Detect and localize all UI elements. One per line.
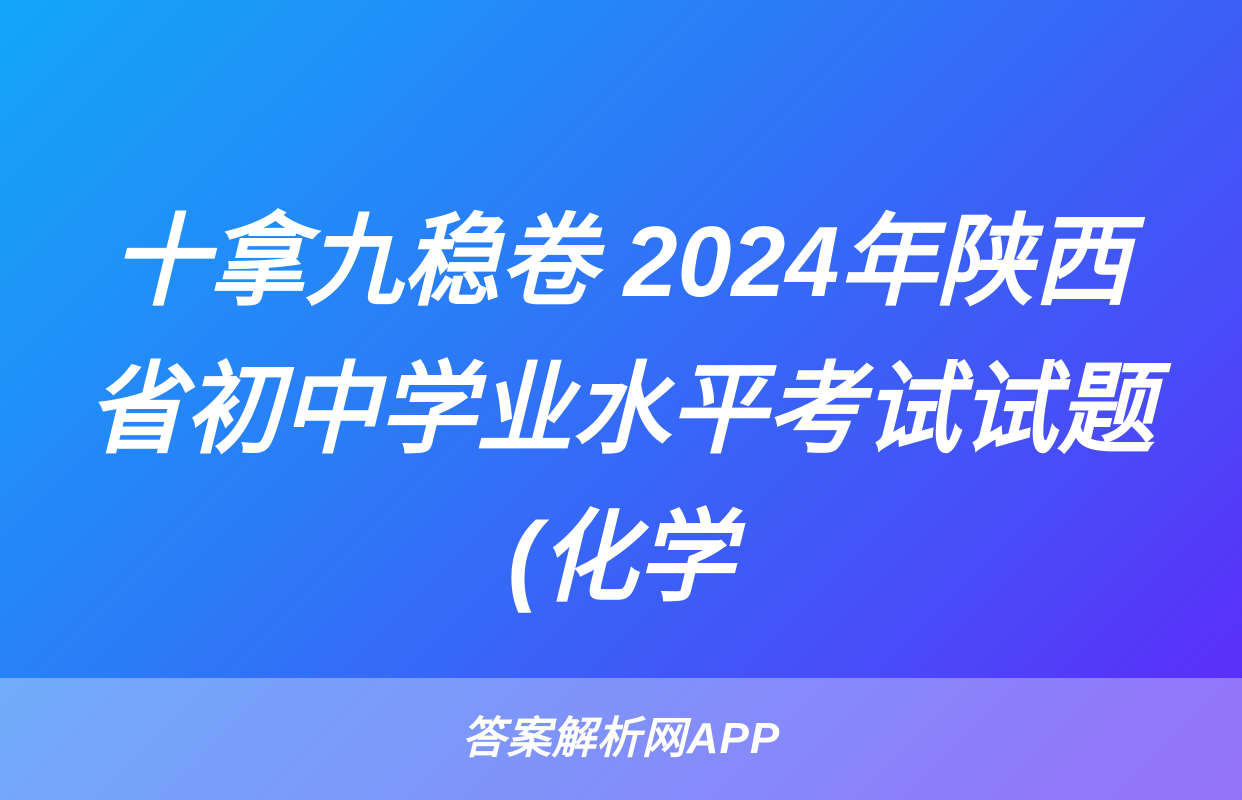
title-line-3: (化学 [19, 484, 1224, 632]
title-line-2: 省初中学业水平考试试题 [19, 336, 1224, 484]
title-line-1: 十拿九稳卷 2024年陕西 [19, 188, 1224, 336]
watermark-text: 答案解析网APP [462, 715, 780, 763]
poster-title: 十拿九稳卷 2024年陕西 省初中学业水平考试试题 (化学 [0, 188, 1242, 632]
watermark-banner: 答案解析网APP [0, 678, 1242, 800]
poster-canvas: 十拿九稳卷 2024年陕西 省初中学业水平考试试题 (化学 答案解析网APP [0, 0, 1242, 800]
